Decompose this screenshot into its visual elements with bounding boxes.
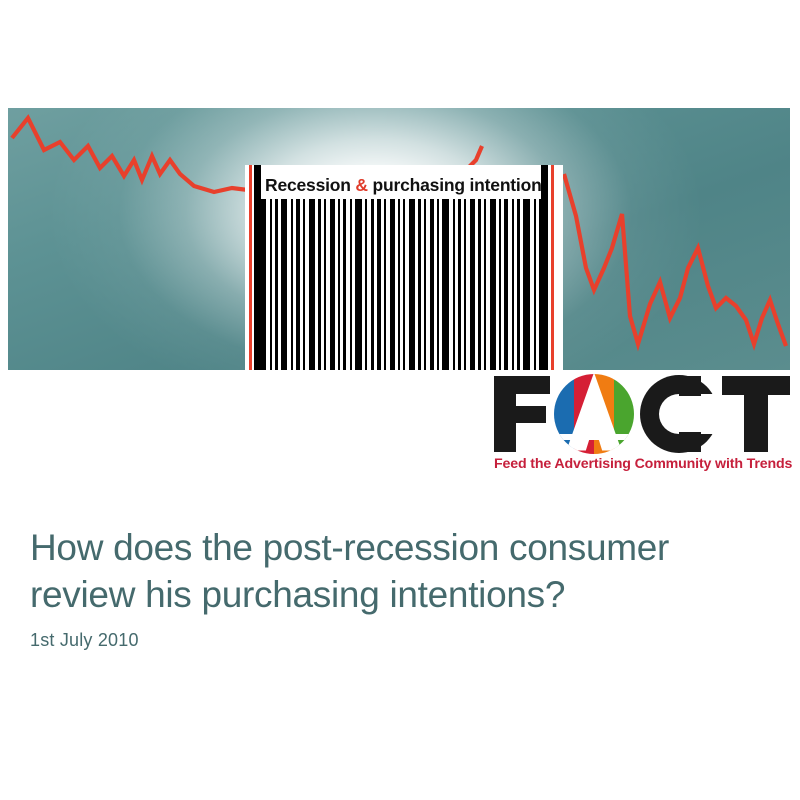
- barcode-bar: [484, 199, 486, 370]
- page-title-line-2: review his purchasing intentions?: [30, 574, 565, 615]
- barcode-bar: [534, 199, 536, 370]
- barcode-guard-right-black: [541, 165, 548, 370]
- barcode-bar: [270, 199, 272, 370]
- barcode-bar: [350, 199, 352, 370]
- barcode-bar: [470, 199, 475, 370]
- barcode-guard-left-black: [254, 165, 261, 370]
- barcode-bar: [504, 199, 508, 370]
- barcode-bar: [512, 199, 514, 370]
- barcode-bar: [409, 199, 415, 370]
- barcode-bar: [261, 199, 266, 370]
- barcode-bar: [464, 199, 466, 370]
- barcode-bar: [324, 199, 326, 370]
- barcode-bar: [453, 199, 455, 370]
- page-title-line-1: How does the post-recession consumer: [30, 527, 669, 568]
- barcode-bar: [377, 199, 381, 370]
- barcode-bar: [517, 199, 520, 370]
- barcode-bar: [355, 199, 362, 370]
- barcode-bar: [478, 199, 481, 370]
- barcode-bars: [249, 199, 559, 370]
- barcode-bar: [403, 199, 405, 370]
- barcode-bar: [458, 199, 461, 370]
- logo-letter-t: [722, 376, 790, 452]
- barcode-bar: [365, 199, 367, 370]
- barcode-bar: [490, 199, 496, 370]
- recession-banner: Recession & purchasing intention: [8, 108, 790, 370]
- fact-wordmark: [492, 372, 792, 454]
- barcode-label-prefix: Recession: [265, 175, 355, 195]
- slide-date: 1st July 2010: [30, 630, 139, 651]
- fact-tagline: Feed the Advertising Community with Tren…: [494, 456, 792, 472]
- barcode-label: Recession & purchasing intention: [265, 172, 547, 198]
- barcode-bar: [309, 199, 315, 370]
- barcode-bar: [442, 199, 449, 370]
- logo-letter-f: [494, 376, 550, 452]
- logo-letter-a: [554, 374, 634, 454]
- barcode-label-suffix: purchasing intention: [368, 175, 542, 195]
- barcode-label-ampersand: &: [355, 175, 367, 195]
- barcode-bar: [523, 199, 530, 370]
- barcode-guard-right-red: [551, 165, 554, 370]
- barcode-bar: [384, 199, 386, 370]
- barcode-bar: [291, 199, 293, 370]
- page-title: How does the post-recession consumer rev…: [30, 524, 770, 618]
- barcode-guard-left-red: [249, 165, 252, 370]
- barcode-bar: [330, 199, 335, 370]
- barcode-bar: [318, 199, 321, 370]
- title-slide: Recession & purchasing intention: [0, 0, 800, 800]
- barcode-bar: [303, 199, 305, 370]
- barcode-bar: [343, 199, 346, 370]
- barcode-bar: [437, 199, 439, 370]
- fact-logo: Feed the Advertising Community with Tren…: [492, 372, 792, 480]
- barcode-bar: [281, 199, 287, 370]
- barcode-bar: [338, 199, 340, 370]
- barcode-bar: [499, 199, 501, 370]
- barcode-bar: [371, 199, 374, 370]
- barcode-bar: [398, 199, 400, 370]
- title-block: How does the post-recession consumer rev…: [30, 524, 770, 618]
- barcode-bar: [275, 199, 278, 370]
- barcode-bar: [430, 199, 434, 370]
- barcode-bar: [296, 199, 300, 370]
- barcode-card: Recession & purchasing intention: [245, 165, 563, 370]
- barcode-bar: [418, 199, 421, 370]
- barcode-bar: [390, 199, 395, 370]
- barcode-bar: [424, 199, 426, 370]
